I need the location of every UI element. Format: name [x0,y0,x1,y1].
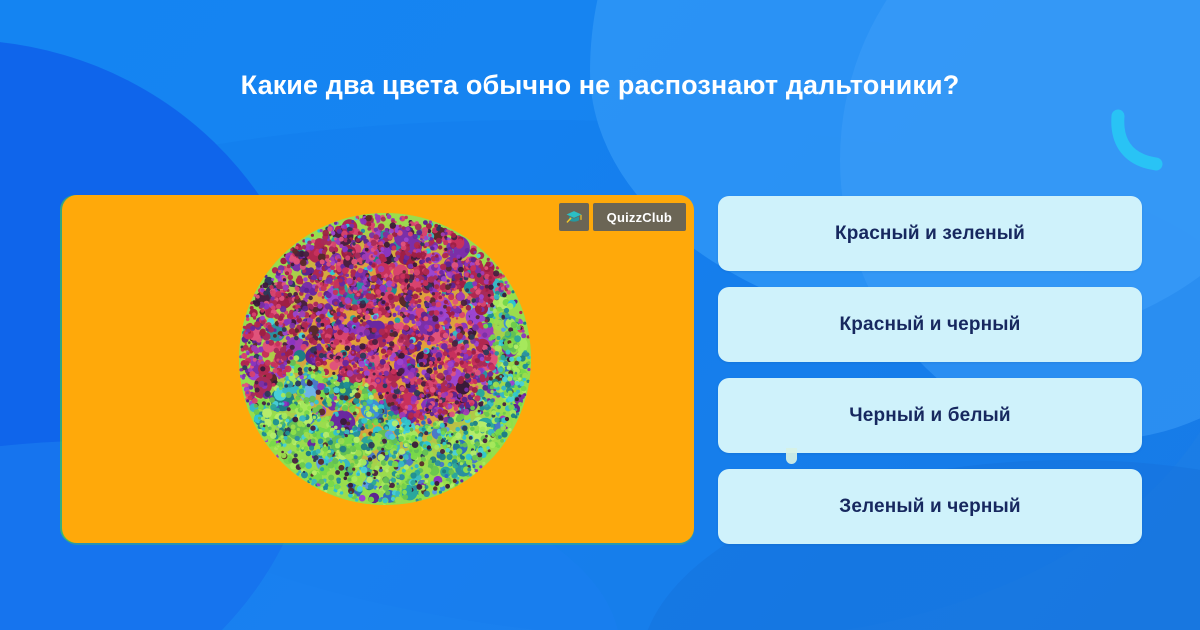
quizzclub-brand-label: QuizzClub [593,203,686,231]
answer-option-2[interactable]: Красный и черный [718,287,1142,362]
answer-option-1-label: Красный и зеленый [835,223,1025,245]
ishihara-test-plate-image [239,213,531,505]
answer-option-3-marker [786,448,797,464]
answer-option-1[interactable]: Красный и зеленый [718,196,1142,271]
answer-option-3[interactable]: Черный и белый [718,378,1142,453]
graduation-cap-icon [559,203,589,231]
answer-option-2-label: Красный и черный [840,314,1021,336]
quizzclub-watermark: QuizzClub [559,203,686,231]
cyan-arc-accent-icon [1110,112,1174,176]
quiz-card-canvas: Какие два цвета обычно не распознают дал… [0,0,1200,630]
question-media-card: QuizzClub [62,195,694,543]
answer-options-list: Красный и зеленый Красный и черный Черны… [718,196,1142,544]
question-title-bar: Какие два цвета обычно не распознают дал… [0,68,1200,102]
answer-option-4[interactable]: Зеленый и черный [718,469,1142,544]
question-title: Какие два цвета обычно не распознают дал… [241,68,960,102]
answer-option-4-label: Зеленый и черный [839,496,1020,518]
answer-option-3-label: Черный и белый [849,405,1011,427]
